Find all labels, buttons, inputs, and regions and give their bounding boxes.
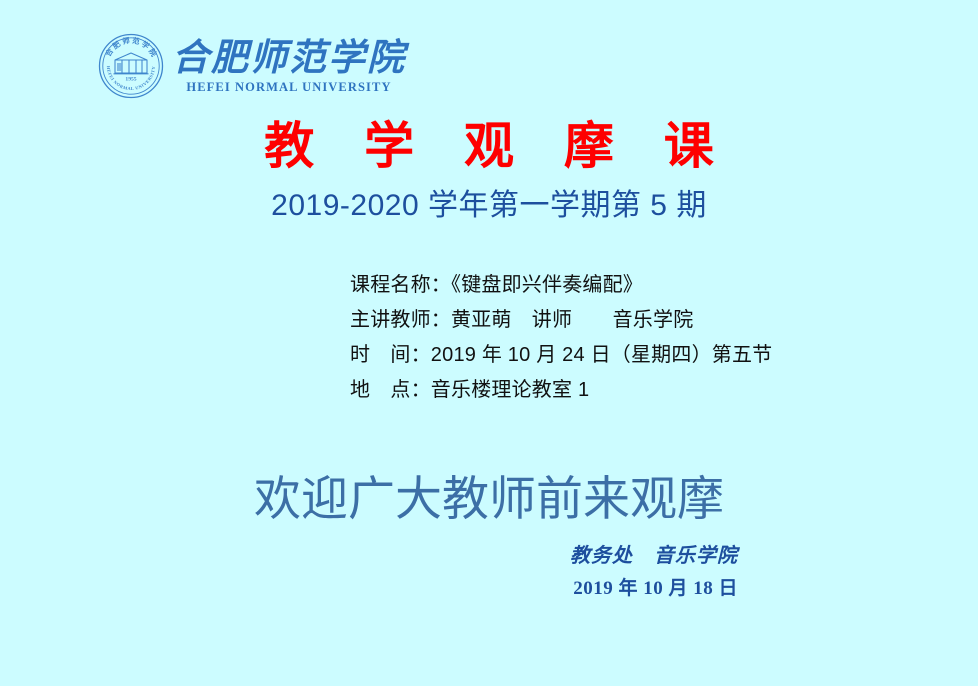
detail-location: 地 点：音乐楼理论教室 1 (350, 373, 589, 408)
letterhead: 合 肥 师 范 学 院 HEFEI NORMAL UNIVERSITY 1955… (98, 33, 406, 99)
page-subtitle: 2019-2020 学年第一学期第 5 期 (0, 186, 978, 226)
course-details: 课程名称：《键盘即兴伴奏编配》 主讲教师：黄亚萌 讲师 音乐学院 时 间：201… (0, 268, 978, 408)
detail-instructor: 主讲教师：黄亚萌 讲师 音乐学院 (350, 303, 693, 338)
svg-text:合 肥 师 范 学 院: 合 肥 师 范 学 院 (103, 36, 159, 59)
signature-block: 教务处 音乐学院 2019 年 10 月 18 日 (0, 540, 978, 604)
university-wordmark: 合肥师范学院 HEFEI NORMAL UNIVERSITY (172, 37, 406, 95)
university-name-en: HEFEI NORMAL UNIVERSITY (172, 80, 406, 95)
signature-date: 2019 年 10 月 18 日 (573, 573, 738, 604)
university-seal-icon: 合 肥 师 范 学 院 HEFEI NORMAL UNIVERSITY 1955 (98, 33, 164, 99)
detail-time: 时 间：2019 年 10 月 24 日（星期四）第五节 (350, 338, 772, 373)
welcome-message: 欢迎广大教师前来观摩 (0, 470, 978, 528)
signature-issuers: 教务处 音乐学院 (570, 540, 738, 573)
detail-course-name: 课程名称：《键盘即兴伴奏编配》 (350, 268, 643, 303)
page-title: 教 学 观 摩 课 (0, 117, 978, 175)
svg-text:1955: 1955 (125, 77, 136, 83)
poster-canvas: 合 肥 师 范 学 院 HEFEI NORMAL UNIVERSITY 1955… (0, 0, 978, 686)
university-name-cn: 合肥师范学院 (172, 39, 406, 79)
